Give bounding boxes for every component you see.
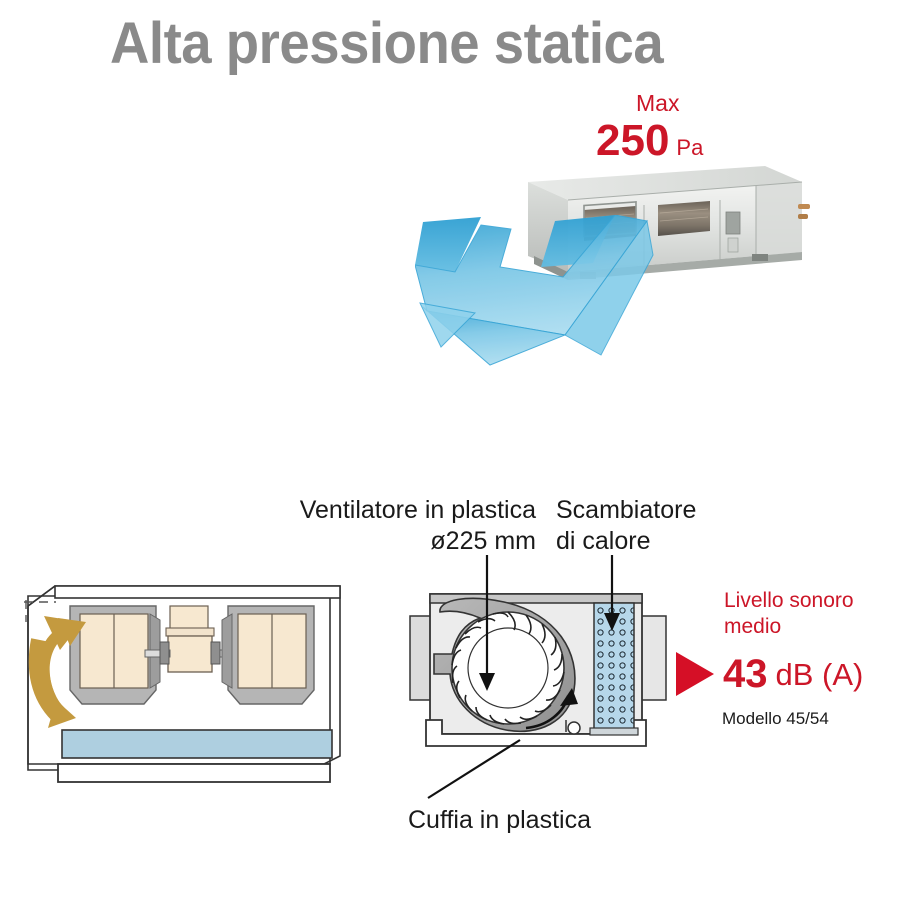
sound-model-note: Modello 45/54 bbox=[722, 709, 829, 729]
sound-value: 43 bbox=[723, 652, 768, 696]
pressure-value-row: 250Pa bbox=[596, 119, 703, 163]
pressure-unit: Pa bbox=[676, 135, 703, 160]
red-triangle-icon bbox=[676, 652, 714, 696]
airflow-arrow-icon bbox=[415, 215, 715, 380]
static-pressure-callout: Max 250Pa bbox=[596, 92, 703, 163]
leader-lines bbox=[380, 545, 680, 845]
sound-unit: dB (A) bbox=[776, 657, 864, 692]
page-title: Alta pressione statica bbox=[110, 10, 663, 77]
sound-head-line1: Livello sonoro bbox=[724, 588, 854, 614]
sound-head-line2: medio bbox=[724, 614, 854, 640]
label-hx-line1: Scambiatore bbox=[556, 495, 756, 526]
pressure-max-label: Max bbox=[636, 92, 703, 115]
sound-level-callout: Livello sonoro medio bbox=[724, 588, 854, 641]
label-fan-line1: Ventilatore in plastica bbox=[246, 495, 536, 526]
leader-cowl bbox=[428, 740, 520, 798]
sound-value-row: 43dB (A) bbox=[676, 652, 863, 696]
heat-exchanger-bar bbox=[62, 730, 332, 758]
pressure-value: 250 bbox=[596, 116, 669, 165]
fan-assembly-right bbox=[222, 606, 314, 704]
diagram-fan-deck bbox=[0, 578, 380, 813]
